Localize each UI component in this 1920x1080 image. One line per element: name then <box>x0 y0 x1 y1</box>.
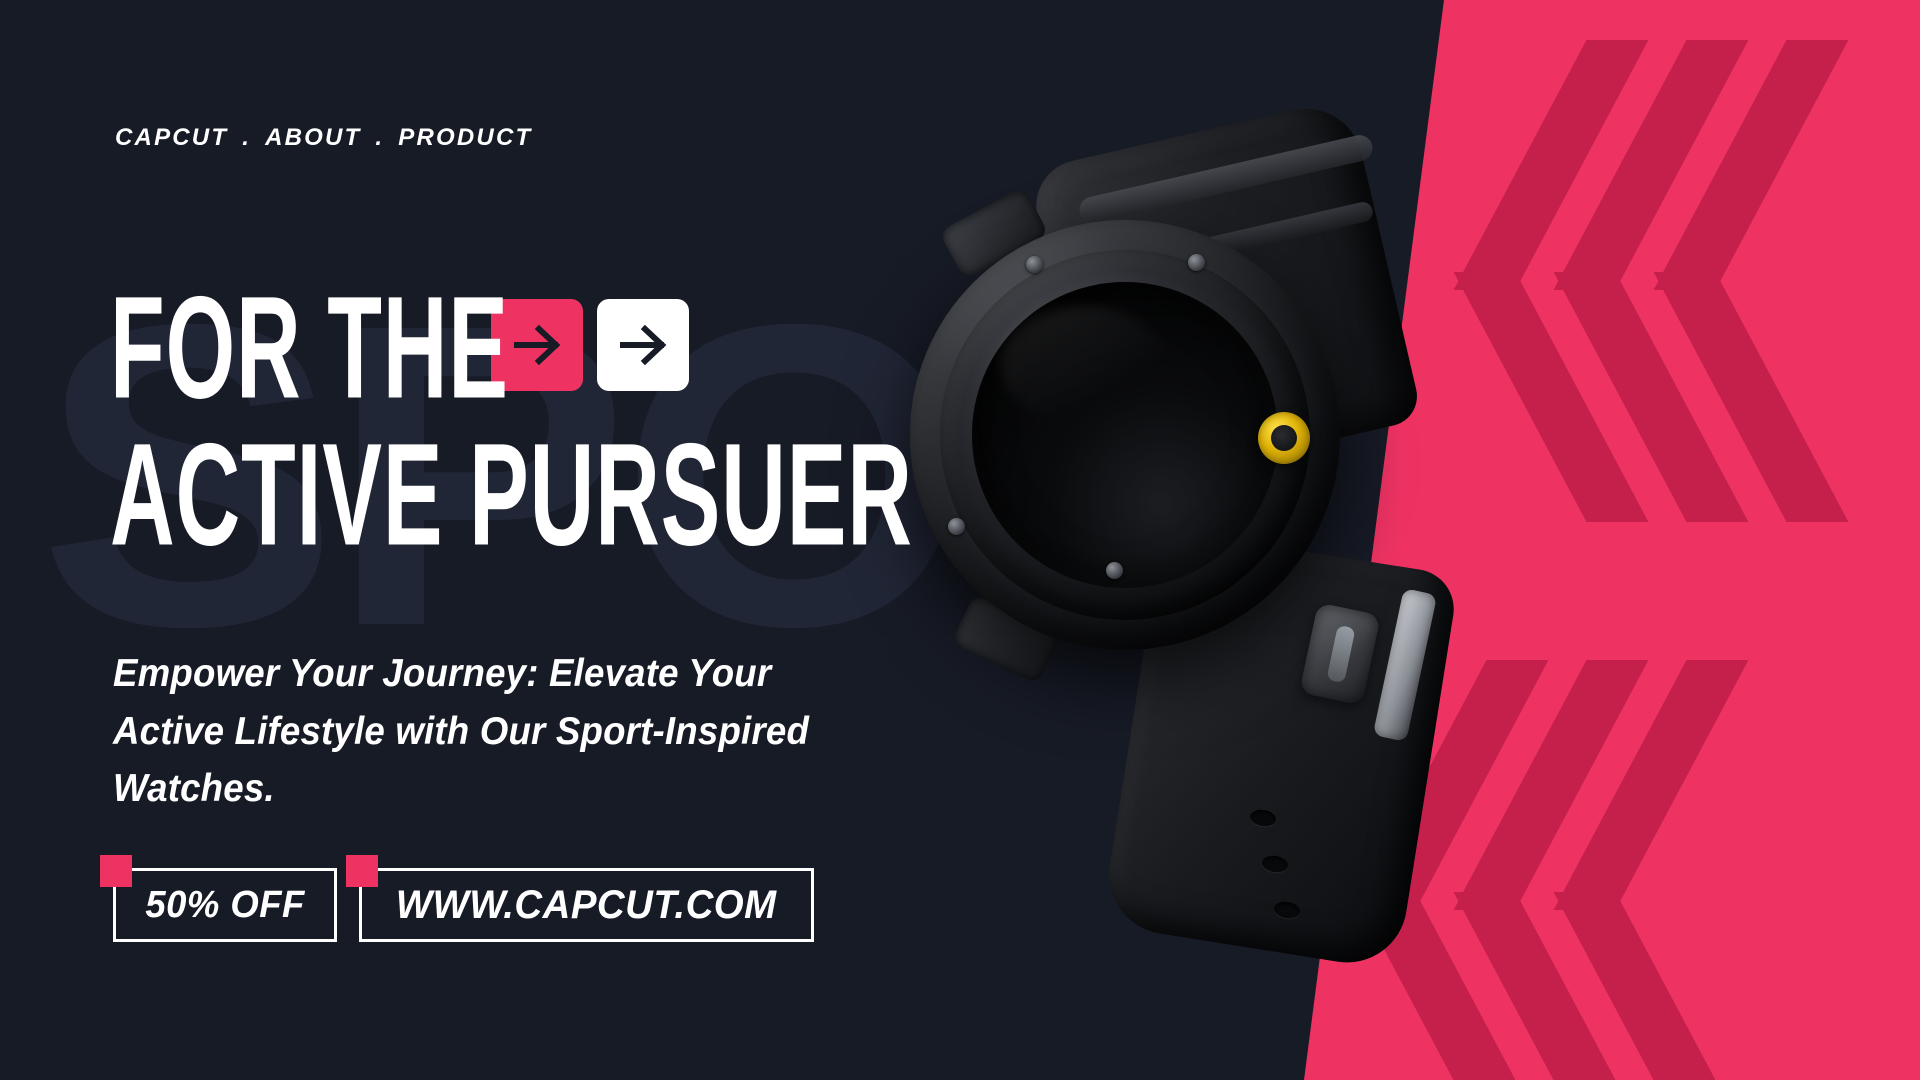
watch-bezel-screw <box>1026 256 1043 273</box>
nav-item-product[interactable]: PRODUCT <box>398 124 532 152</box>
watch-face-glare <box>1000 306 1170 426</box>
content-column: CAPCUT . ABOUT . PRODUCT FOR THE <box>0 0 900 1080</box>
top-navigation: CAPCUT . ABOUT . PRODUCT <box>115 124 532 152</box>
nav-item-about[interactable]: ABOUT <box>265 124 361 152</box>
nav-item-capcut[interactable]: CAPCUT <box>115 124 228 152</box>
cta-arrow-group <box>491 299 689 391</box>
watch-bezel-screw <box>1188 254 1205 271</box>
arrow-button-secondary[interactable] <box>597 299 689 391</box>
product-image-smartwatch <box>880 120 1580 940</box>
arrow-right-icon <box>617 319 669 371</box>
corner-accent-square <box>100 855 132 887</box>
discount-badge[interactable]: 50% OFF <box>113 868 337 942</box>
nav-separator: . <box>375 124 384 152</box>
cta-bar: 50% OFF WWW.CAPCUT.COM <box>113 868 814 942</box>
subtitle-text: Empower Your Journey: Elevate Your Activ… <box>113 645 827 818</box>
website-badge[interactable]: WWW.CAPCUT.COM <box>359 868 814 942</box>
headline-row-1: FOR THE <box>110 296 970 399</box>
watch-crown-core <box>1271 425 1297 451</box>
website-label: WWW.CAPCUT.COM <box>396 883 777 928</box>
arrow-right-icon <box>511 319 563 371</box>
corner-accent-square <box>346 855 378 887</box>
headline-block: FOR THE <box>110 296 970 546</box>
headline-line-2: ACTIVE PURSUER <box>110 428 798 562</box>
headline-line-1: FOR THE <box>110 281 509 415</box>
discount-label: 50% OFF <box>145 884 304 927</box>
watch-bezel-screw <box>1106 562 1123 579</box>
promo-banner: SPO CAPCUT . ABOUT . PRODU <box>0 0 1920 1080</box>
nav-separator: . <box>242 124 251 152</box>
